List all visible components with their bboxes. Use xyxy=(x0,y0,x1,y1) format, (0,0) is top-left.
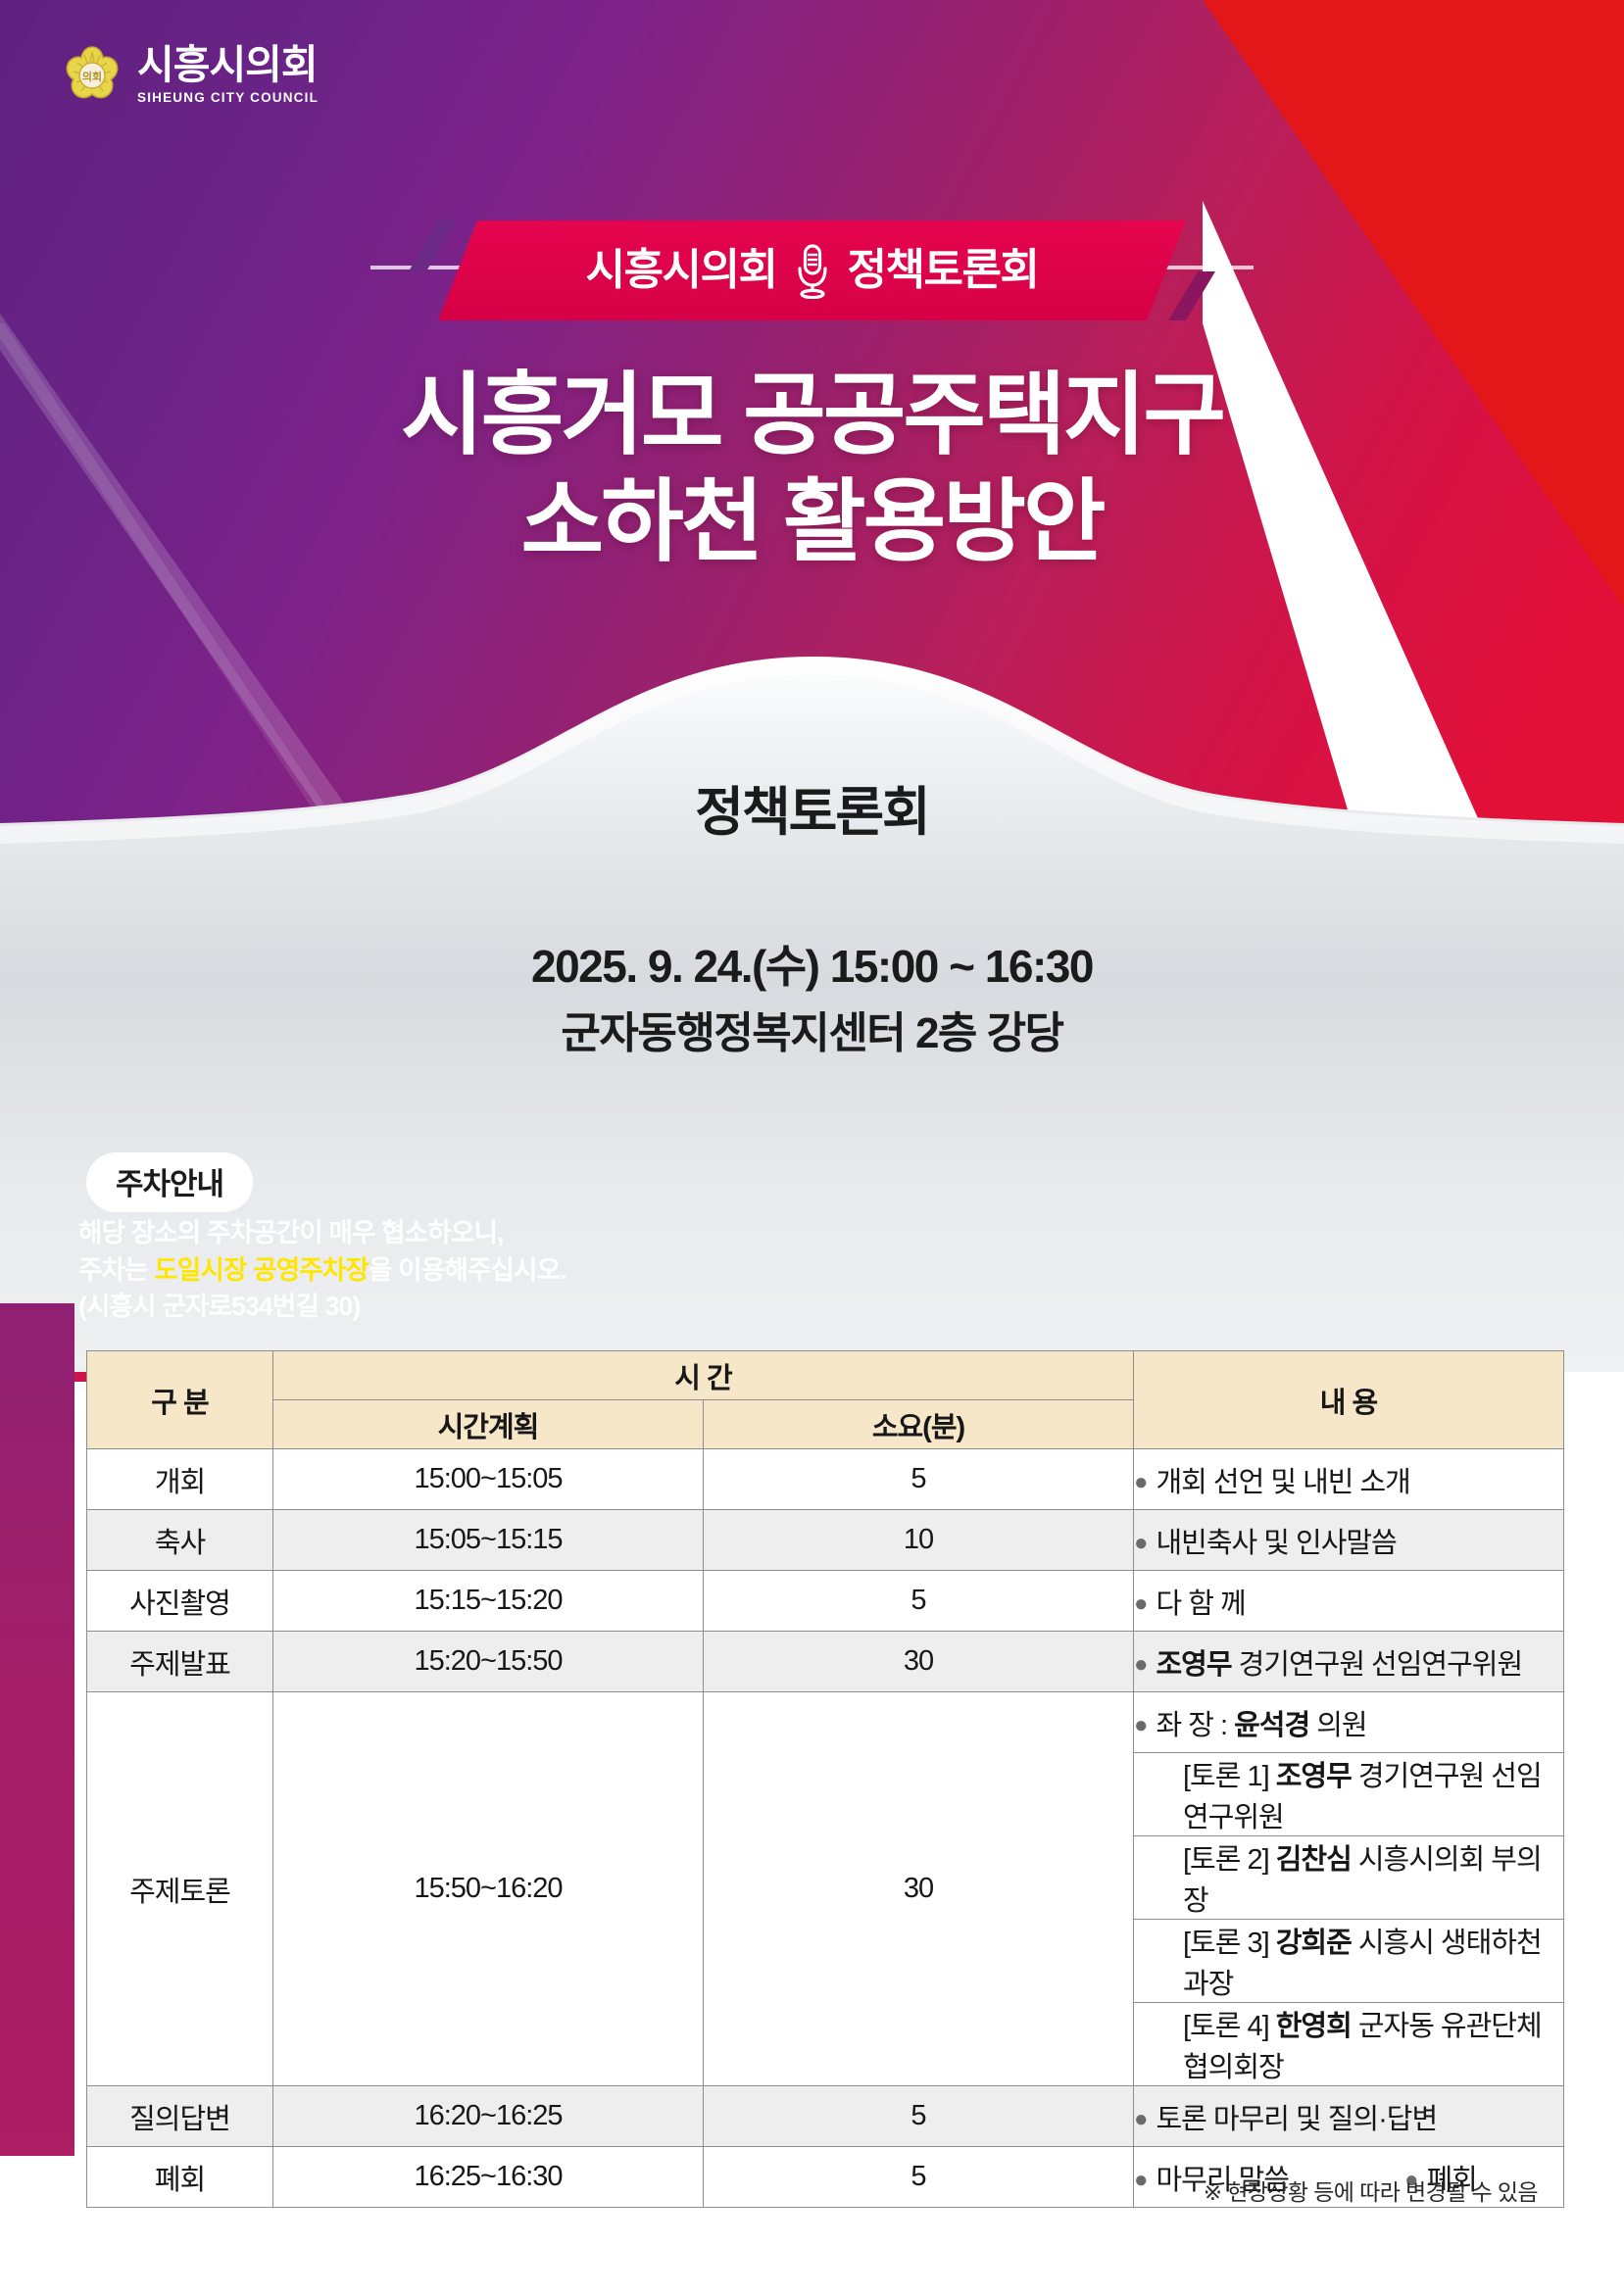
ribbon-fold-right xyxy=(1168,271,1215,320)
emblem-inner-label: 의회 xyxy=(82,70,102,83)
table-row: 사진촬영 15:15~15:20 5 ●다 함 께 xyxy=(87,1571,1564,1632)
presenter-name: 조영무 xyxy=(1156,1649,1232,1681)
discussant-name: 조영무 xyxy=(1276,1761,1352,1792)
row-plan: 15:05~15:15 xyxy=(273,1510,704,1571)
row-content-text: 토론 마무리 및 질의·답변 xyxy=(1156,2104,1438,2135)
decorative-left-purple-column xyxy=(0,1303,74,2156)
parking-address: (시흥시 군자로534번길 30) xyxy=(78,1289,960,1326)
bullet-icon: ● xyxy=(1134,1651,1148,1678)
header-naeyong: 내 용 xyxy=(1134,1351,1564,1449)
parking-line-1: 해당 장소의 주차공간이 매우 협소하오니, xyxy=(78,1215,960,1252)
discussant-row: [토론 2] 김찬심 시흥시의회 부의장 xyxy=(1134,1836,1564,1920)
discussant-row: [토론 3] 강희준 시흥시 생태하천과장 xyxy=(1134,1920,1564,2003)
discussant-name: 김찬심 xyxy=(1276,1844,1352,1876)
title-line-1: 시흥거모 공공주택지구 xyxy=(0,363,1624,469)
header-row-1: 구 분 시 간 내 용 xyxy=(87,1351,1564,1400)
row-content-text: 개회 선언 및 내빈 소개 xyxy=(1156,1467,1410,1498)
agenda-table-body: 개회 15:00~15:05 5 ●개회 선언 및 내빈 소개 축사 15:05… xyxy=(87,1449,1564,2208)
logo-text-block: 시흥시의회 SIHEUNG CITY COUNCIL xyxy=(137,45,319,105)
row-content-text: 다 함 께 xyxy=(1156,1588,1246,1620)
microphone-icon xyxy=(793,242,832,299)
row-gubun: 폐회 xyxy=(87,2147,273,2208)
row-gubun: 주제발표 xyxy=(87,1632,273,1692)
bullet-icon: ● xyxy=(1134,2106,1148,2132)
plate-heading: 정책토론회 xyxy=(0,768,1624,846)
parking-line-2-pre: 주차는 xyxy=(78,1255,154,1285)
row-content: ●다 함 께 xyxy=(1134,1571,1564,1632)
table-footnote: ※ 현장상황 등에 따라 변경될 수 있음 xyxy=(1204,2174,1538,2207)
agenda-table-wrapper: 구 분 시 간 내 용 시간계획 소요(분) 개회 15:00~15:05 5 … xyxy=(86,1350,1564,2208)
ribbon-fold-left xyxy=(409,220,456,271)
ribbon-right-label: 정책토론회 xyxy=(848,249,1039,292)
siheung-council-emblem-icon: 의회 xyxy=(61,43,123,106)
logo-korean-name: 시흥시의회 xyxy=(137,45,319,85)
event-ribbon: 시흥시의회 정책토론회 xyxy=(0,220,1624,323)
bullet-icon: ● xyxy=(1134,2167,1148,2193)
table-row: 질의답변 16:20~16:25 5 ●토론 마무리 및 질의·답변 xyxy=(87,2086,1564,2147)
chair-label: 좌 장 : xyxy=(1156,1710,1235,1741)
row-gubun: 축사 xyxy=(87,1510,273,1571)
council-logo: 의회 시흥시의회 SIHEUNG CITY COUNCIL xyxy=(61,43,319,106)
header-plan: 시간계획 xyxy=(273,1400,704,1449)
row-duration: 5 xyxy=(704,2147,1134,2208)
row-gubun: 질의답변 xyxy=(87,2086,273,2147)
agenda-table: 구 분 시 간 내 용 시간계획 소요(분) 개회 15:00~15:05 5 … xyxy=(86,1350,1564,2208)
row-gubun: 사진촬영 xyxy=(87,1571,273,1632)
poster-main-title: 시흥거모 공공주택지구 소하천 활용방안 xyxy=(0,363,1624,575)
discussant-tag: [토론 3] xyxy=(1183,1928,1269,1959)
row-duration: 5 xyxy=(704,1571,1134,1632)
row-duration: 5 xyxy=(704,2086,1134,2147)
row-plan: 15:20~15:50 xyxy=(273,1632,704,1692)
header-gubun: 구 분 xyxy=(87,1351,273,1449)
row-plan: 15:15~15:20 xyxy=(273,1571,704,1632)
bullet-icon: ● xyxy=(1134,1469,1148,1495)
parking-info-text: 해당 장소의 주차공간이 매우 협소하오니, 주차는 도일시장 공영주차장을 이… xyxy=(78,1215,960,1326)
event-datetime: 2025. 9. 24.(수) 15:00 ~ 16:30 xyxy=(0,931,1624,996)
event-venue: 군자동행정복지센터 2층 강당 xyxy=(0,998,1624,1060)
row-content: ●토론 마무리 및 질의·답변 xyxy=(1134,2086,1564,2147)
bullet-icon: ● xyxy=(1134,1530,1148,1556)
row-duration: 10 xyxy=(704,1510,1134,1571)
parking-line-2: 주차는 도일시장 공영주차장을 이용해주십시오. xyxy=(78,1252,960,1290)
bullet-icon: ● xyxy=(1134,1712,1148,1738)
agenda-table-head: 구 분 시 간 내 용 시간계획 소요(분) xyxy=(87,1351,1564,1449)
table-row: 주제발표 15:20~15:50 30 ●조영무 경기연구원 선임연구위원 xyxy=(87,1632,1564,1692)
panel-gubun: 주제토론 xyxy=(87,1692,273,2086)
row-content-text: 내빈축사 및 인사말씀 xyxy=(1156,1528,1397,1559)
table-row: 축사 15:05~15:15 10 ●내빈축사 및 인사말씀 xyxy=(87,1510,1564,1571)
header-duration: 소요(분) xyxy=(704,1400,1134,1449)
row-duration: 5 xyxy=(704,1449,1134,1510)
header-sigan: 시 간 xyxy=(273,1351,1134,1400)
table-row: 개회 15:00~15:05 5 ●개회 선언 및 내빈 소개 xyxy=(87,1449,1564,1510)
row-gubun: 개회 xyxy=(87,1449,273,1510)
ribbon-banner: 시흥시의회 정책토론회 xyxy=(438,220,1186,320)
table-row: 주제토론 15:50~16:20 30 ●좌 장 : 윤석경 의원 xyxy=(87,1692,1564,1753)
row-plan: 16:25~16:30 xyxy=(273,2147,704,2208)
row-content: ●개회 선언 및 내빈 소개 xyxy=(1134,1449,1564,1510)
discussant-row: [토론 1] 조영무 경기연구원 선임연구위원 xyxy=(1134,1753,1564,1836)
discussant-tag: [토론 1] xyxy=(1183,1761,1269,1792)
discussant-tag: [토론 4] xyxy=(1183,2011,1269,2042)
discussant-name: 한영희 xyxy=(1276,2011,1352,2042)
parking-lot-highlight: 도일시장 공영주차장 xyxy=(154,1255,369,1285)
row-content: ●내빈축사 및 인사말씀 xyxy=(1134,1510,1564,1571)
parking-line-2-post: 을 이용해주십시오. xyxy=(369,1255,566,1285)
panel-plan: 15:50~16:20 xyxy=(273,1692,704,2086)
parking-info-badge: 주차안내 xyxy=(86,1152,253,1212)
row-content: ●조영무 경기연구원 선임연구위원 xyxy=(1134,1632,1564,1692)
ribbon-left-label: 시흥시의회 xyxy=(586,249,777,292)
title-line-2: 소하천 활용방안 xyxy=(0,469,1624,576)
poster-root: 의회 시흥시의회 SIHEUNG CITY COUNCIL 시흥시의회 xyxy=(0,0,1624,2296)
row-duration: 30 xyxy=(704,1632,1134,1692)
discussant-tag: [토론 2] xyxy=(1183,1844,1269,1876)
presenter-affiliation: 경기연구원 선임연구위원 xyxy=(1232,1649,1523,1681)
row-plan: 15:00~15:05 xyxy=(273,1449,704,1510)
discussant-row: [토론 4] 한영희 군자동 유관단체협의회장 xyxy=(1134,2003,1564,2086)
panel-chair: ●좌 장 : 윤석경 의원 xyxy=(1134,1692,1564,1753)
bullet-icon: ● xyxy=(1134,1590,1148,1617)
discussant-name: 강희준 xyxy=(1276,1928,1352,1959)
panel-duration: 30 xyxy=(704,1692,1134,2086)
logo-english-name: SIHEUNG CITY COUNCIL xyxy=(137,90,319,105)
chair-role: 의원 xyxy=(1309,1710,1366,1741)
chair-name: 윤석경 xyxy=(1234,1710,1309,1741)
row-plan: 16:20~16:25 xyxy=(273,2086,704,2147)
